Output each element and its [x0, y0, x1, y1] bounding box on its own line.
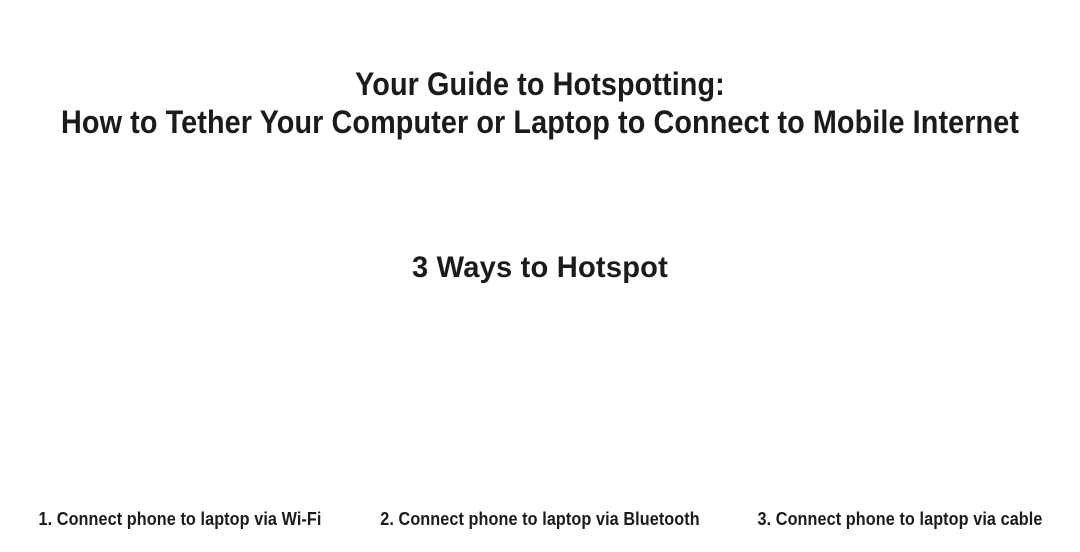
method-illustration-cable	[720, 309, 1080, 507]
method-column-cable: 3. Connect phone to laptop via cable	[720, 286, 1080, 552]
method-illustration-bluetooth	[360, 309, 720, 507]
methods-band: 1. Connect phone to laptop via Wi-Fi 2. …	[0, 286, 1080, 552]
method-caption-cable: 3. Connect phone to laptop via cable	[738, 507, 1062, 552]
method-column-bluetooth: 2. Connect phone to laptop via Bluetooth	[360, 286, 720, 552]
page-title: Your Guide to Hotspotting: How to Tether…	[54, 65, 1026, 141]
section-heading: 3 Ways to Hotspot	[16, 249, 1064, 287]
article-page: Your Guide to Hotspotting: How to Tether…	[0, 0, 1080, 552]
method-caption-wifi: 1. Connect phone to laptop via Wi-Fi	[18, 507, 342, 552]
page-title-line-2: How to Tether Your Computer or Laptop to…	[54, 103, 1026, 141]
method-column-wifi: 1. Connect phone to laptop via Wi-Fi	[0, 286, 360, 552]
page-title-line-1: Your Guide to Hotspotting:	[54, 65, 1026, 103]
method-illustration-wifi	[0, 309, 360, 507]
method-caption-bluetooth: 2. Connect phone to laptop via Bluetooth	[378, 507, 702, 552]
